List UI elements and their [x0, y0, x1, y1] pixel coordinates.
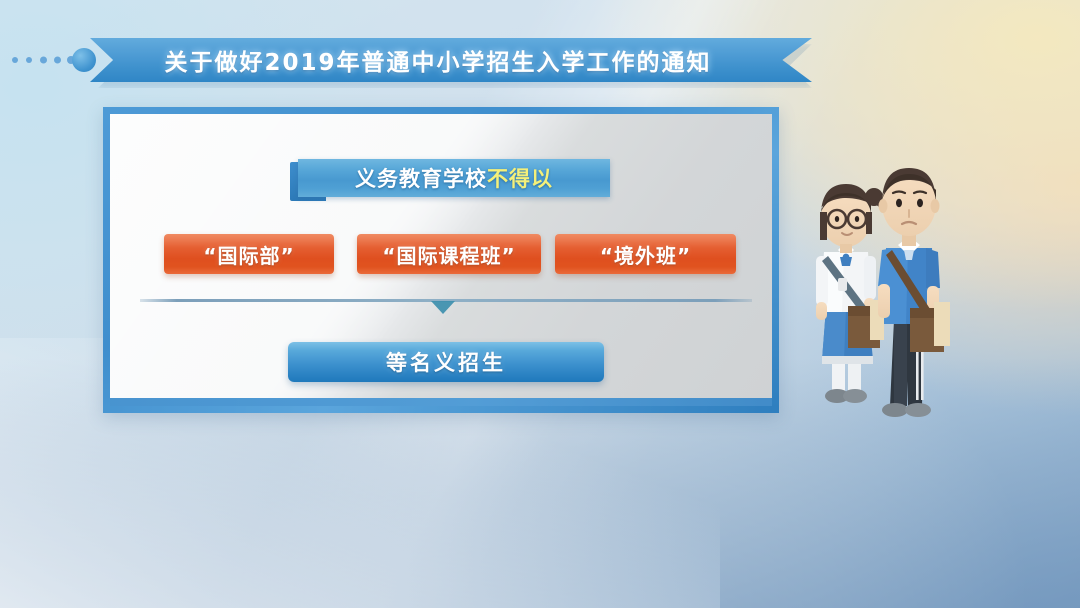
girl-student — [816, 184, 889, 403]
screenshot-stage: 关于做好2019年普通中小学招生入学工作的通知 义务教育学校不得以 “国际部” … — [0, 0, 1080, 608]
term-chip-label: “国际课程班” — [382, 240, 515, 269]
header-bar-text: 义务教育学校不得以 — [355, 163, 553, 193]
content-panel-inner: 义务教育学校不得以 “国际部” “国际课程班” “境外班” 等名义 — [110, 114, 772, 406]
title-banner: 关于做好2019年普通中小学招生入学工作的通知 — [0, 38, 830, 82]
header-text-plain: 义务教育学校 — [355, 167, 487, 191]
statement-header: 义务教育学校不得以 — [290, 159, 610, 201]
term-chip-international-department[interactable]: “国际部” — [164, 234, 334, 274]
term-chip-international-course-class[interactable]: “国际课程班” — [357, 234, 541, 274]
term-chip-label: “国际部” — [203, 240, 294, 269]
conclusion-bar: 等名义招生 — [288, 342, 604, 382]
term-chip-label: “境外班” — [600, 240, 691, 269]
students-illustration — [798, 160, 998, 432]
leader-dot — [26, 57, 32, 63]
leader-dot-large — [72, 48, 96, 72]
boy-student — [878, 168, 950, 417]
leader-dot — [40, 57, 47, 64]
forbidden-terms-row: “国际部” “国际课程班” “境外班” — [110, 234, 772, 280]
ribbon-body: 关于做好2019年普通中小学招生入学工作的通知 — [90, 38, 812, 82]
term-chip-overseas-class[interactable]: “境外班” — [555, 234, 736, 274]
panel-bottom-accent — [110, 398, 772, 406]
header-bar: 义务教育学校不得以 — [298, 159, 610, 197]
header-text-highlight: 不得以 — [487, 167, 553, 191]
students-svg — [798, 160, 998, 432]
leader-dot — [12, 57, 18, 63]
content-panel: 义务教育学校不得以 “国际部” “国际课程班” “境外班” 等名义 — [103, 107, 779, 413]
page-title: 关于做好2019年普通中小学招生入学工作的通知 — [164, 43, 737, 77]
conclusion-bar-text: 等名义招生 — [386, 347, 506, 377]
leader-dot — [54, 57, 61, 64]
chevron-down-icon — [431, 301, 455, 314]
